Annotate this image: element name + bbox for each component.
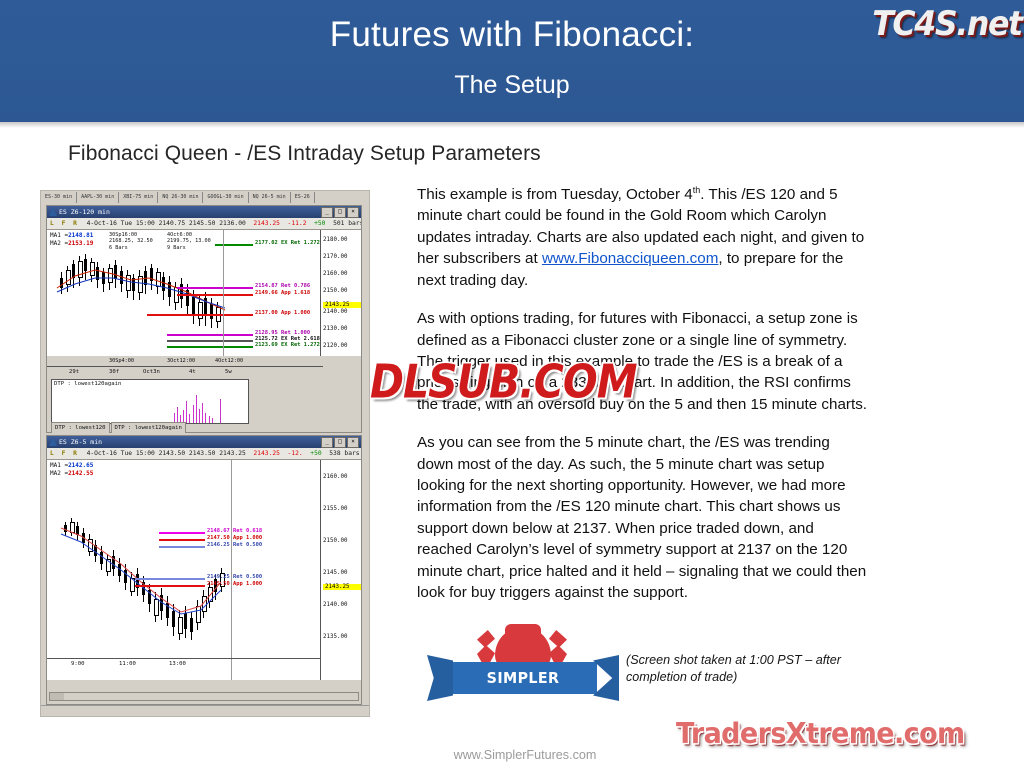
bar-count: 538 bars (329, 450, 359, 457)
dtp-indicator-pane[interactable]: DTP : lowest120again (51, 379, 249, 424)
ribbon-banner: SIMPLER FUTURES (449, 662, 597, 694)
time-tick: Oct3n (143, 369, 160, 375)
price-change: -11.2 (288, 220, 307, 227)
price-tick: 2150.00 (323, 288, 347, 294)
time-tick: 5w (225, 369, 232, 375)
price-tick: 2140.00 (323, 309, 347, 315)
price-tick: 2140.00 (323, 602, 347, 608)
ohlc-values: 4-Oct-16 Tue 15:00 2140.75 2145.50 2136.… (87, 220, 246, 227)
price-tick: 2155.00 (323, 506, 347, 512)
ohlc-values: 4-Oct-16 Tue 15:00 2143.50 2143.50 2143.… (87, 450, 246, 457)
last-price-tag: 2143.25 (323, 302, 361, 308)
chart-window-title: ES Z6-120 min (59, 208, 110, 216)
price-tick: 2160.00 (323, 474, 347, 480)
time-tick: 13:00 (169, 661, 186, 667)
price-tick: 2180.00 (323, 237, 347, 243)
scrollbar-thumb[interactable] (50, 693, 64, 700)
time-axis-120min: 29t 30f Oct3n 4t 5w (47, 367, 323, 377)
page-subtitle: The Setup (0, 70, 1024, 100)
chart-info-bar-5min: L F R 4-Oct-16 Tue 15:00 2143.50 2143.50… (47, 448, 361, 460)
simpler-futures-logo: SIMPLER FUTURES (443, 628, 603, 706)
price-tick: 2160.00 (323, 271, 347, 277)
study-tab[interactable]: DTP : lowest120 (51, 422, 110, 433)
axis-annotation-3: 4Oct12:00 (215, 358, 243, 364)
close-button[interactable]: × (347, 437, 359, 448)
chart-plot-area-120min[interactable]: MA1 =2148.81 MA2 =2153.19 30Sp16:00 2168… (47, 230, 361, 356)
lfr-toggle[interactable]: L F R (50, 220, 79, 227)
chart-info-bar-120min: L F R 4-Oct-16 Tue 15:00 2140.75 2145.50… (47, 218, 361, 230)
page-title: Futures with Fibonacci: (0, 14, 1024, 56)
time-tick: 4t (189, 369, 196, 375)
maximize-button[interactable]: □ (334, 437, 346, 448)
study-tab-row[interactable]: DTP : lowest120 DTP : lowest120again (51, 422, 186, 433)
simpler-futures-url: www.SimplerFutures.com (430, 748, 620, 762)
paragraph-1-part-a: This example is from Tuesday, October 4 (417, 186, 693, 203)
fib-level-label: 2137.00 App 1.000 (255, 310, 310, 316)
time-tick: 11:00 (119, 661, 136, 667)
workbook-tab[interactable]: NQ 26-30 min (158, 192, 203, 203)
chart-window-title: ES Z6-5 min (59, 438, 102, 446)
fib-level-label: 2146.25 Ret 0.500 (207, 542, 262, 548)
price-scale-120min[interactable]: 2180.00 2170.00 2160.00 2150.00 2143.25 … (320, 230, 361, 356)
tc4s-logo: TC4S.net (873, 4, 1022, 44)
chart-window-120min: ES Z6-120 min _ □ × L F R 4-Oct-16 Tue 1… (46, 205, 362, 433)
price-tick: 2130.00 (323, 326, 347, 332)
last-price: 2143.25 (253, 450, 280, 457)
axis-annotation-1: 30Sp4:00 (109, 358, 134, 364)
fib-level-label: 2177.02 EX Ret 1.272 (255, 240, 320, 246)
axis-annotation: 4Oct12:00 (215, 358, 243, 364)
volume-value: +50 (314, 220, 325, 227)
minimize-button[interactable]: _ (321, 437, 333, 448)
axis-annotation: 3Oct12:00 (167, 358, 195, 364)
workbook-tab[interactable]: ES-26 (291, 192, 315, 203)
workbook-tab-strip[interactable]: ES-30 min AAPL-30 min XBI-75 min NQ 26-3… (41, 191, 370, 203)
fib-level-label: 2148.67 Ret 0.618 (207, 528, 262, 534)
price-tick: 2150.00 (323, 538, 347, 544)
minimize-button[interactable]: _ (321, 207, 333, 218)
price-tick: 2170.00 (323, 254, 347, 260)
paragraph-1: This example is from Tuesday, October 4t… (417, 180, 869, 291)
bar-count: 501 bars (333, 220, 361, 227)
fib-level-label: 2154.87 Ret 0.786 (255, 283, 310, 289)
axis-annotation-2: 3Oct12:00 (167, 358, 195, 364)
crosshair-line (223, 230, 224, 356)
fib-level-label: 2145.50 App 1.000 (207, 581, 262, 587)
status-bar (41, 705, 370, 716)
simpler-futures-label: SIMPLER FUTURES (453, 662, 594, 694)
price-tick: 2120.00 (323, 343, 347, 349)
section-heading: Fibonacci Queen - /ES Intraday Setup Par… (68, 142, 541, 166)
workbook-tab[interactable]: GOOGL-30 min (203, 192, 248, 203)
close-button[interactable]: × (347, 207, 359, 218)
window-controls[interactable]: _ □ × (321, 437, 359, 448)
fib-level-label: 2149.25 Ret 0.500 (207, 574, 262, 580)
moving-average-curves-5min (47, 460, 361, 680)
chart-window-titlebar[interactable]: ES Z6-5 min _ □ × (47, 436, 361, 448)
price-tick: 2135.00 (323, 634, 347, 640)
time-tick: 30f (109, 369, 119, 375)
app-icon (49, 208, 57, 216)
last-price-tag: 2143.25 (323, 584, 361, 590)
price-scale-5min[interactable]: 2160.00 2155.00 2150.00 2145.00 2143.25 … (320, 460, 361, 680)
workbook-tab[interactable]: ES-30 min (41, 192, 77, 203)
screenshot-caption: (Screen shot taken at 1:00 PST – after c… (626, 652, 876, 686)
trading-platform-screenshot: ES-30 min AAPL-30 min XBI-75 min NQ 26-3… (40, 190, 370, 717)
price-tick: 2145.00 (323, 570, 347, 576)
price-change: -12. (288, 450, 303, 457)
crosshair-line (231, 460, 232, 680)
horizontal-scrollbar[interactable] (49, 692, 359, 701)
workbook-tab[interactable]: XBI-75 min (119, 192, 158, 203)
chart-window-titlebar[interactable]: ES Z6-120 min _ □ × (47, 206, 361, 218)
header-banner: Futures with Fibonacci: The Setup TC4S.n… (0, 0, 1024, 122)
fib-level-label: 2123.69 EX Ret 1.272 (255, 342, 320, 348)
study-tab[interactable]: DTP : lowest120again (111, 422, 186, 433)
time-tick: 29t (69, 369, 79, 375)
chart-plot-area-5min[interactable]: MA1 =2142.65 MA2 =2142.55 (47, 460, 361, 680)
last-price: 2143.25 (253, 220, 280, 227)
window-controls[interactable]: _ □ × (321, 207, 359, 218)
fib-level-label: 2149.66 App 1.618 (255, 290, 310, 296)
workbook-tab[interactable]: NQ 26-5 min (249, 192, 291, 203)
axis-annotation: 30Sp4:00 (109, 358, 134, 364)
fib-level-label: 2147.50 App 1.000 (207, 535, 262, 541)
dlsub-watermark: DLSUB.COM (370, 355, 637, 409)
fibonacciqueen-link[interactable]: www.Fibonacciqueen.com (542, 250, 718, 267)
paragraph-3: As you can see from the 5 minute chart, … (417, 432, 869, 603)
app-icon (49, 438, 57, 446)
workbook-tab[interactable]: AAPL-30 min (77, 192, 119, 203)
lfr-toggle[interactable]: L F R (50, 450, 79, 457)
time-tick: 9:00 (71, 661, 84, 667)
tradersxtreme-logo: TradersXtreme.com (676, 718, 965, 751)
time-axis-5min: 9:00 11:00 13:00 (47, 659, 321, 671)
volume-value: +50 (310, 450, 321, 457)
banner-shadow (0, 122, 1024, 128)
maximize-button[interactable]: □ (334, 207, 346, 218)
dtp-label: DTP : lowest120again (54, 381, 121, 387)
chart-window-5min: ES Z6-5 min _ □ × L F R 4-Oct-16 Tue 15:… (46, 435, 362, 705)
